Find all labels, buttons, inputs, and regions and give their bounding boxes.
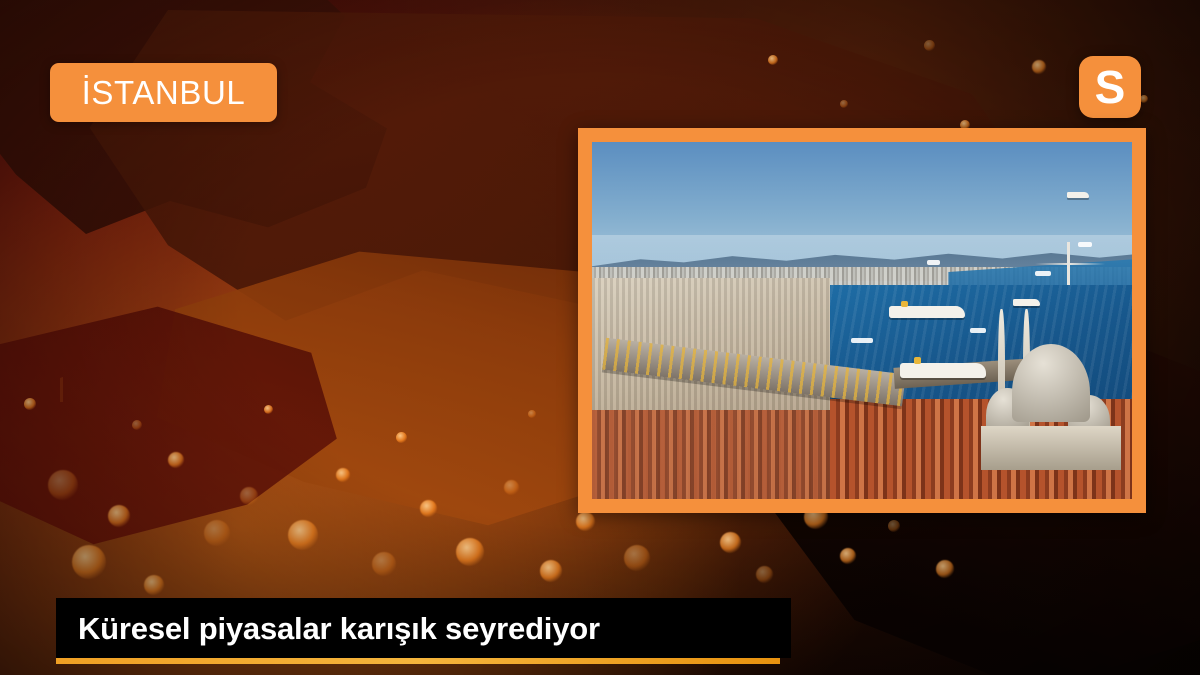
photo-bridge-tower [1067,242,1070,285]
photo-boat [1078,242,1092,247]
photo-ferry-funnel [914,357,922,364]
news-card: İSTANBUL S [0,0,1200,675]
photo-boat [927,260,941,265]
photo-boat [1035,271,1051,276]
photo-boat [970,328,986,333]
photo-ferry [889,306,965,318]
photo-new-mosque [981,299,1121,470]
headline-text: Küresel piyasalar karışık seyrediyor [56,613,600,644]
city-badge-label: İSTANBUL [82,76,246,109]
photo-ferry [900,363,986,378]
headline-underline-rule [56,658,780,664]
photo-ferry [1067,192,1089,198]
photo-suspension-bridge [1035,242,1105,285]
photo-boat [851,338,873,343]
headline-band: Küresel piyasalar karışık seyrediyor [56,598,791,658]
photo-ferry [1013,299,1040,306]
istanbul-photo [592,142,1132,499]
brand-logo-icon[interactable]: S [1079,56,1141,118]
city-badge: İSTANBUL [50,63,277,122]
photo-mosque-base [981,426,1121,471]
photo-ferry-funnel [901,301,908,307]
photo-frame [578,128,1146,513]
brand-logo-letter: S [1095,64,1126,110]
